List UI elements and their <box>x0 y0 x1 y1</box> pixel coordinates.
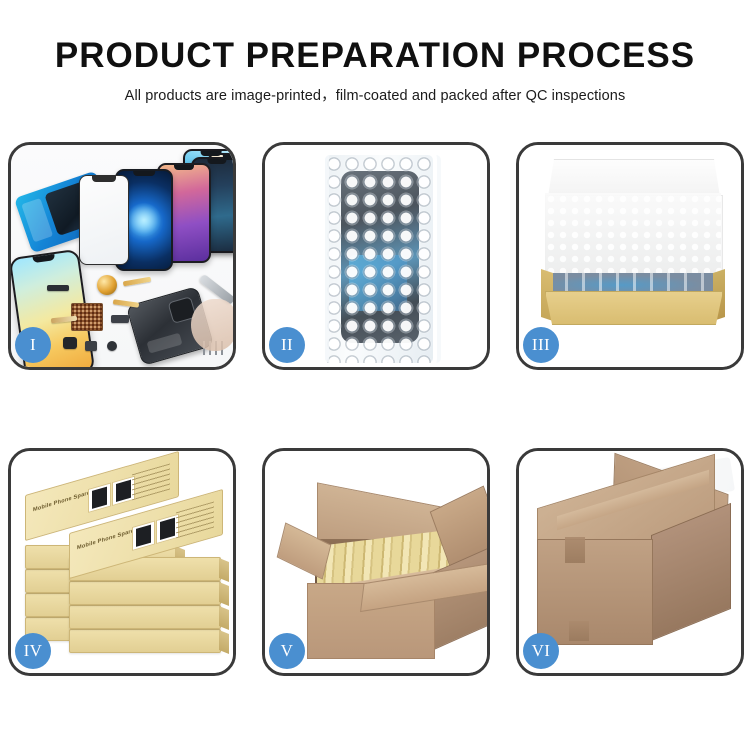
step-3-image: III <box>519 145 741 367</box>
page-title: PRODUCT PREPARATION PROCESS <box>0 36 750 76</box>
step-badge-4: IV <box>15 633 51 669</box>
notch-icon <box>133 171 155 176</box>
page-subtitle: All products are image-printed，film-coat… <box>0 84 750 105</box>
box-side-icon <box>219 558 229 582</box>
box-front-panel-icon <box>545 291 723 325</box>
chip-part-icon <box>107 341 117 351</box>
step-panel-1: I <box>8 142 236 370</box>
screen-thumbnail-icon <box>116 480 131 502</box>
step-panel-5: V <box>262 448 490 676</box>
product-preparation-infographic: PRODUCT PREPARATION PROCESS All products… <box>0 0 750 750</box>
box-text-lines-icon <box>132 464 170 501</box>
sleeve-seal-icon <box>325 155 441 363</box>
step-panel-3: III <box>516 142 744 370</box>
chip-part-icon <box>111 315 129 323</box>
chip-part-icon <box>85 341 97 351</box>
step-badge-2: II <box>269 327 305 363</box>
box-window-icon <box>88 482 111 513</box>
foam-padding-icon <box>545 193 721 279</box>
step-badge-3: III <box>523 327 559 363</box>
header: PRODUCT PREPARATION PROCESS All products… <box>0 0 750 120</box>
step-panel-2: II <box>262 142 490 370</box>
screen-thumbnail-icon <box>136 525 151 547</box>
process-steps-grid: I II <box>0 140 750 685</box>
step-panel-4: Mobile Phone Spare Parts Mobile Phone Sp… <box>8 448 236 676</box>
screen-thumbnail-icon <box>92 487 107 509</box>
carton-front-icon <box>537 539 653 645</box>
kraft-box-icon <box>69 605 221 629</box>
kraft-box-icon <box>69 629 221 653</box>
hand-icon <box>191 299 233 351</box>
step-panel-6: VI <box>516 448 744 676</box>
carton-tab-icon <box>565 537 585 563</box>
notch-icon <box>33 254 56 263</box>
box-side-icon <box>219 630 229 654</box>
step-5-image: V <box>265 451 487 673</box>
step-6-image: VI <box>519 451 741 673</box>
box-side-icon <box>219 582 229 606</box>
speaker-coil-icon <box>97 275 117 295</box>
tempered-glass-icon <box>79 175 129 265</box>
notch-icon <box>174 165 194 170</box>
step-badge-5: V <box>269 633 305 669</box>
step-badge-1: I <box>15 327 51 363</box>
box-side-icon <box>219 606 229 630</box>
step-2-image: II <box>265 145 487 367</box>
notch-icon <box>201 151 222 156</box>
box-text-lines-icon <box>176 502 214 539</box>
step-1-image: I <box>11 145 233 367</box>
chip-part-icon <box>63 337 77 349</box>
carton-tab-icon <box>569 621 589 641</box>
screen-thumbnail-icon <box>160 518 175 540</box>
step-4-image: Mobile Phone Spare Parts Mobile Phone Sp… <box>11 451 233 673</box>
notch-icon <box>207 159 226 164</box>
chip-part-icon <box>47 285 69 291</box>
box-window-icon <box>132 520 155 551</box>
step-badge-6: VI <box>523 633 559 669</box>
kraft-box-icon <box>69 581 221 605</box>
